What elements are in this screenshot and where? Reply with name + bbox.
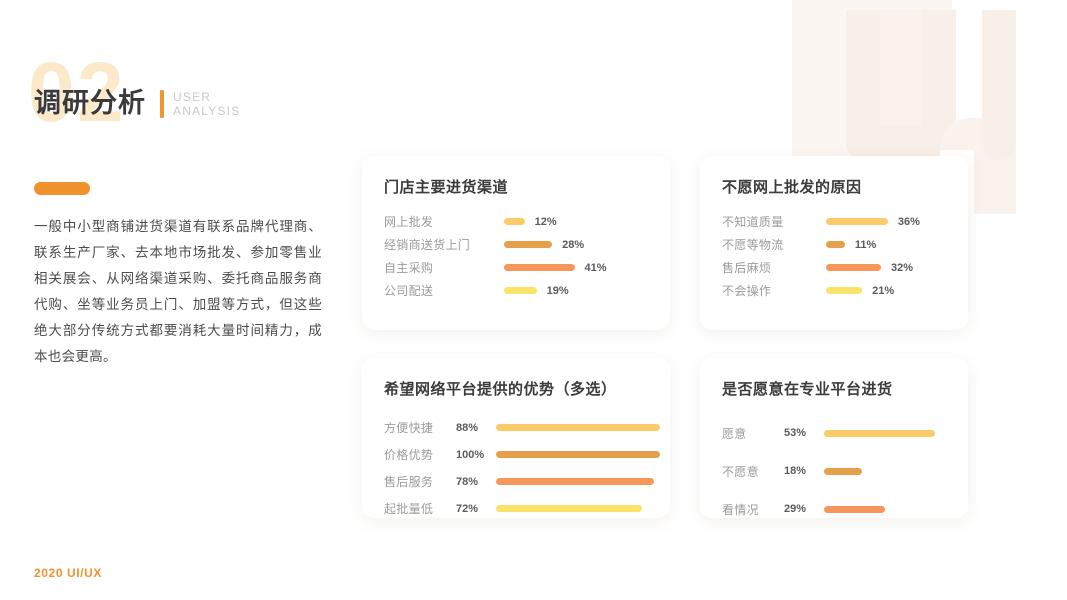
bar-value-label: 12%: [535, 216, 557, 228]
bar-row[interactable]: 自主采购41%: [384, 256, 660, 279]
title-divider: [160, 90, 164, 118]
bar-row[interactable]: 售后麻烦32%: [722, 256, 958, 279]
bar-row[interactable]: 看情况29%: [722, 490, 958, 528]
bar-fill: [826, 241, 845, 248]
bar-row[interactable]: 不愿意18%: [722, 452, 958, 490]
bar-value-label: 18%: [784, 465, 824, 477]
bar-fill: [504, 218, 525, 225]
bar-fill: [504, 241, 552, 248]
watermark-u-left-stroke: [846, 10, 880, 160]
bar-fill: [504, 287, 537, 294]
bar-value-label: 41%: [585, 262, 607, 274]
card-title: 不愿网上批发的原因: [722, 176, 862, 197]
bar-value-label: 78%: [456, 476, 496, 488]
chart-card-3[interactable]: 是否愿意在专业平台进货愿意53%不愿意18%看情况29%: [700, 358, 968, 518]
bar-row[interactable]: 不会操作21%: [722, 279, 958, 302]
bar-row[interactable]: 公司配送19%: [384, 279, 660, 302]
page-title-cn: 调研分析: [34, 88, 146, 118]
bar-value-label: 28%: [562, 239, 584, 251]
bar-fill: [826, 287, 862, 294]
bar-row[interactable]: 方便快捷88%: [384, 414, 660, 441]
bar-row[interactable]: 起批量低72%: [384, 495, 660, 522]
watermark-i-stem: [982, 10, 1016, 160]
bar-row[interactable]: 愿意53%: [722, 414, 958, 452]
page-title: 调研分析 USER ANALYSIS: [34, 88, 240, 118]
bar-row[interactable]: 售后服务78%: [384, 468, 660, 495]
watermark-u-right-stroke: [922, 10, 956, 160]
bar-row[interactable]: 价格优势100%: [384, 441, 660, 468]
bar-fill: [824, 506, 885, 513]
bar-category-label: 方便快捷: [384, 419, 456, 436]
bar-value-label: 21%: [872, 285, 894, 297]
bar-category-label: 价格优势: [384, 446, 456, 463]
accent-pill: [34, 182, 90, 195]
bar-fill: [496, 478, 654, 485]
intro-paragraph: 一般中小型商铺进货渠道有联系品牌代理商、联系生产厂家、去本地市场批发、参加零售业…: [34, 214, 322, 370]
bar-value-label: 32%: [891, 262, 913, 274]
bar-fill: [826, 218, 888, 225]
card-title: 是否愿意在专业平台进货: [722, 378, 893, 399]
bar-rows: 方便快捷88%价格优势100%售后服务78%起批量低72%: [384, 414, 660, 522]
bar-fill: [826, 264, 881, 271]
bar-category-label: 起批量低: [384, 500, 456, 517]
bar-fill: [824, 430, 935, 437]
watermark-u-bottom-stroke: [846, 126, 956, 160]
bar-category-label: 看情况: [722, 501, 784, 518]
card-title: 门店主要进货渠道: [384, 176, 508, 197]
card-title: 希望网络平台提供的优势（多选）: [384, 378, 617, 399]
chart-card-1[interactable]: 不愿网上批发的原因不知道质量36%不愿等物流11%售后麻烦32%不会操作21%: [700, 156, 968, 330]
bar-category-label: 不愿意: [722, 463, 784, 480]
bar-category-label: 售后服务: [384, 473, 456, 490]
bar-value-label: 19%: [547, 285, 569, 297]
footer-label: 2020 UI/UX: [34, 566, 102, 580]
bar-rows: 网上批发12%经销商送货上门28%自主采购41%公司配送19%: [384, 210, 660, 302]
bar-value-label: 36%: [898, 216, 920, 228]
watermark-u-fill: [880, 10, 922, 130]
page-title-en: USER ANALYSIS: [173, 88, 240, 118]
watermark-block: [792, 0, 952, 160]
bar-fill: [496, 451, 660, 458]
bar-fill: [824, 468, 862, 475]
bar-value-label: 11%: [855, 239, 876, 251]
bar-value-label: 88%: [456, 422, 496, 434]
bar-rows: 愿意53%不愿意18%看情况29%: [722, 414, 958, 528]
bar-value-label: 100%: [456, 449, 496, 461]
bar-fill: [496, 424, 660, 431]
bar-row[interactable]: 不知道质量36%: [722, 210, 958, 233]
chart-card-0[interactable]: 门店主要进货渠道网上批发12%经销商送货上门28%自主采购41%公司配送19%: [362, 156, 670, 330]
bar-value-label: 53%: [784, 427, 824, 439]
bar-row[interactable]: 网上批发12%: [384, 210, 660, 233]
bar-category-label: 愿意: [722, 425, 784, 442]
bar-fill: [496, 505, 642, 512]
bar-row[interactable]: 经销商送货上门28%: [384, 233, 660, 256]
bar-value-label: 72%: [456, 503, 496, 515]
chart-card-2[interactable]: 希望网络平台提供的优势（多选）方便快捷88%价格优势100%售后服务78%起批量…: [362, 358, 670, 518]
bar-row[interactable]: 不愿等物流11%: [722, 233, 958, 256]
bar-fill: [504, 264, 575, 271]
bar-rows: 不知道质量36%不愿等物流11%售后麻烦32%不会操作21%: [722, 210, 958, 302]
slide-canvas: 02 调研分析 USER ANALYSIS 一般中小型商铺进货渠道有联系品牌代理…: [0, 0, 1067, 600]
bar-value-label: 29%: [784, 503, 824, 515]
